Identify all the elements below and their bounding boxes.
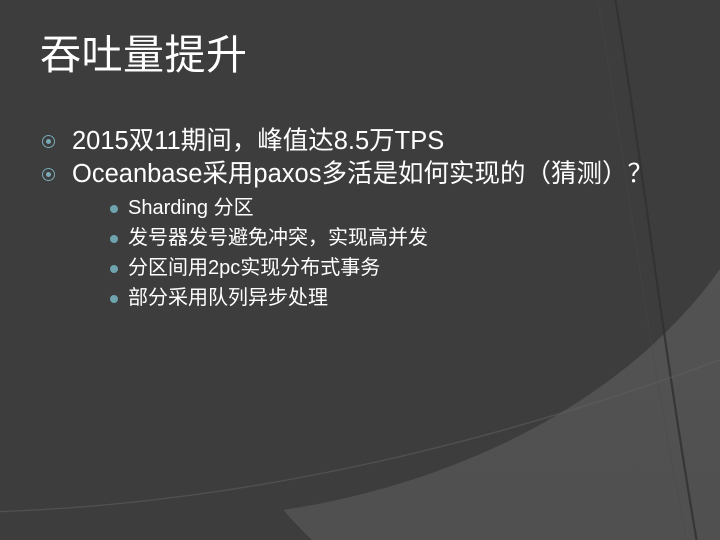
presentation-slide: 吞吐量提升 2015双11期间，峰值达8.5万TPS Oceanbase采用pa… [0,0,720,540]
dot-bullet-icon [110,265,118,273]
background-ellipse-highlight [0,360,720,512]
sub-bullet-item: 发号器发号避免冲突，实现高并发 [98,224,674,252]
sub-bullet-text: Sharding 分区 [128,197,254,219]
sub-bullet-container: Sharding 分区 发号器发号避免冲突，实现高并发 分区间用2pc实现分布式… [72,194,674,312]
slide-body: 2015双11期间，峰值达8.5万TPS Oceanbase采用paxos多活是… [34,126,674,314]
sub-bullet-text: 发号器发号避免冲突，实现高并发 [128,227,428,249]
bullet-list-level-1: 2015双11期间，峰值达8.5万TPS Oceanbase采用paxos多活是… [34,126,674,312]
ring-dot-bullet-icon [42,135,55,148]
bullet-list-level-2: Sharding 分区 发号器发号避免冲突，实现高并发 分区间用2pc实现分布式… [98,194,674,312]
bullet-item: 2015双11期间，峰值达8.5万TPS [34,126,674,157]
dot-bullet-icon [110,205,118,213]
sub-bullet-text: 部分采用队列异步处理 [128,287,328,309]
sub-bullet-item: 分区间用2pc实现分布式事务 [98,254,674,282]
bullet-item: Oceanbase采用paxos多活是如何实现的（猜测）？ Sharding 分… [34,159,674,312]
bullet-text: 2015双11期间，峰值达8.5万TPS [72,126,674,157]
dot-bullet-icon [110,295,118,303]
bullet-text: Oceanbase采用paxos多活是如何实现的（猜测）？ [72,159,674,190]
dot-bullet-icon [110,235,118,243]
ring-dot-bullet-icon [42,168,55,181]
sub-bullet-text: 分区间用2pc实现分布式事务 [128,257,380,279]
slide-title: 吞吐量提升 [40,30,640,81]
sub-bullet-item: Sharding 分区 [98,194,674,222]
sub-bullet-item: 部分采用队列异步处理 [98,284,674,312]
